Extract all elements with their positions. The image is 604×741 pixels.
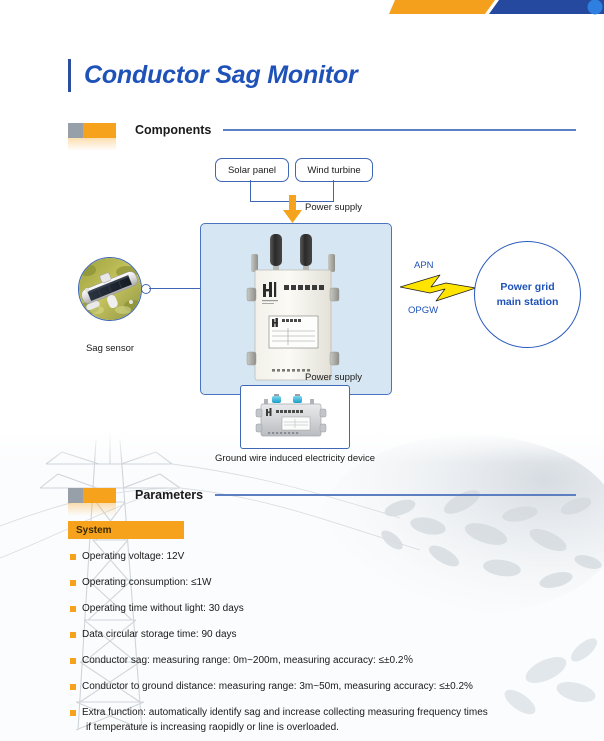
section-label-components: Components	[135, 123, 211, 137]
bullet-square-icon	[70, 580, 76, 586]
bullet-square-icon	[70, 606, 76, 612]
parameters-group-badge: System	[68, 521, 184, 539]
connector-solar-down	[250, 180, 251, 201]
sag-sensor-image	[78, 257, 142, 321]
section-rule-components	[223, 129, 576, 131]
bullet-square-icon	[70, 684, 76, 690]
list-item: Extra function: automatically identify s…	[70, 706, 570, 735]
header-marker-fade-2	[68, 503, 116, 516]
parameter-text-1: Operating consumption: ≤1W	[82, 576, 211, 591]
parameter-text-6: Extra function: automatically identify s…	[82, 706, 488, 735]
bullet-square-icon	[70, 554, 76, 560]
ground-device-panel	[240, 385, 350, 449]
section-header-parameters: Parameters	[68, 485, 576, 505]
page-title: Conductor Sag Monitor	[68, 57, 358, 93]
sensor-connector-line	[149, 288, 200, 289]
header-marker-orange-2	[83, 488, 116, 503]
list-item: Operating time without light: 30 days	[70, 602, 570, 617]
header-marker-gray	[68, 123, 83, 138]
title-text: Conductor Sag Monitor	[84, 61, 358, 90]
bullet-square-icon	[70, 632, 76, 638]
conductor-sag-monitor-device-image	[238, 232, 354, 387]
parameters-list: Operating voltage: 12V Operating consump…	[70, 550, 570, 741]
sag-sensor-caption: Sag sensor	[60, 343, 160, 354]
list-item: Operating voltage: 12V	[70, 550, 570, 565]
link-label-opgw: OPGW	[408, 305, 438, 316]
list-item: Conductor to ground distance: measuring …	[70, 680, 570, 695]
header-marker-gray-2	[68, 488, 83, 503]
bullet-square-icon	[70, 658, 76, 664]
section-header-components: Components	[68, 120, 576, 140]
header-decoration	[389, 0, 604, 22]
power-arrow-down-icon	[283, 195, 302, 223]
list-item: Data circular storage time: 90 days	[70, 628, 570, 643]
section-rule-parameters	[215, 494, 576, 496]
list-item: Operating consumption: ≤1W	[70, 576, 570, 591]
diagram-box-solar-panel[interactable]: Solar panel	[215, 158, 289, 182]
station-line-2: main station	[497, 295, 559, 309]
header-marker-orange	[83, 123, 116, 138]
parameter-text-6-line1: Extra function: automatically identify s…	[82, 707, 488, 718]
parameter-text-3: Data circular storage time: 90 days	[82, 628, 237, 643]
main-device-panel	[200, 223, 392, 395]
diagram-box-wind-turbine[interactable]: Wind turbine	[295, 158, 373, 182]
connector-wind-down	[333, 180, 334, 201]
ground-wire-induced-electricity-device-image	[252, 394, 338, 440]
title-accent-bar	[68, 59, 71, 92]
parameter-text-2: Operating time without light: 30 days	[82, 602, 244, 617]
solar-panel-label: Solar panel	[228, 165, 276, 176]
parameter-text-6-line2: if temperature is increasing raopidly or…	[86, 721, 488, 736]
section-label-parameters: Parameters	[135, 488, 203, 502]
link-label-apn: APN	[414, 260, 434, 271]
ground-device-caption: Ground wire induced electricity device	[180, 453, 410, 464]
station-line-1: Power grid	[497, 280, 559, 294]
parameter-text-5: Conductor to ground distance: measuring …	[82, 680, 473, 695]
parameter-text-0: Operating voltage: 12V	[82, 550, 184, 565]
wind-turbine-label: Wind turbine	[307, 165, 360, 176]
wireless-link-bolt-icon	[400, 274, 476, 304]
page-root: Conductor Sag Monitor Components Solar p…	[0, 0, 604, 741]
bullet-square-icon	[70, 710, 76, 716]
list-item: Conductor sag: measuring range: 0m~200m,…	[70, 654, 570, 669]
power-supply-top-label: Power supply	[305, 202, 362, 213]
power-supply-bottom-label: Power supply	[305, 372, 362, 383]
power-grid-main-station[interactable]: Power grid main station	[474, 241, 581, 348]
components-diagram: Solar panel Wind turbine Power supply	[0, 145, 604, 475]
parameters-group-label: System	[76, 525, 112, 536]
parameter-text-4: Conductor sag: measuring range: 0m~200m,…	[82, 654, 413, 669]
sensor-connector-node	[141, 284, 151, 294]
